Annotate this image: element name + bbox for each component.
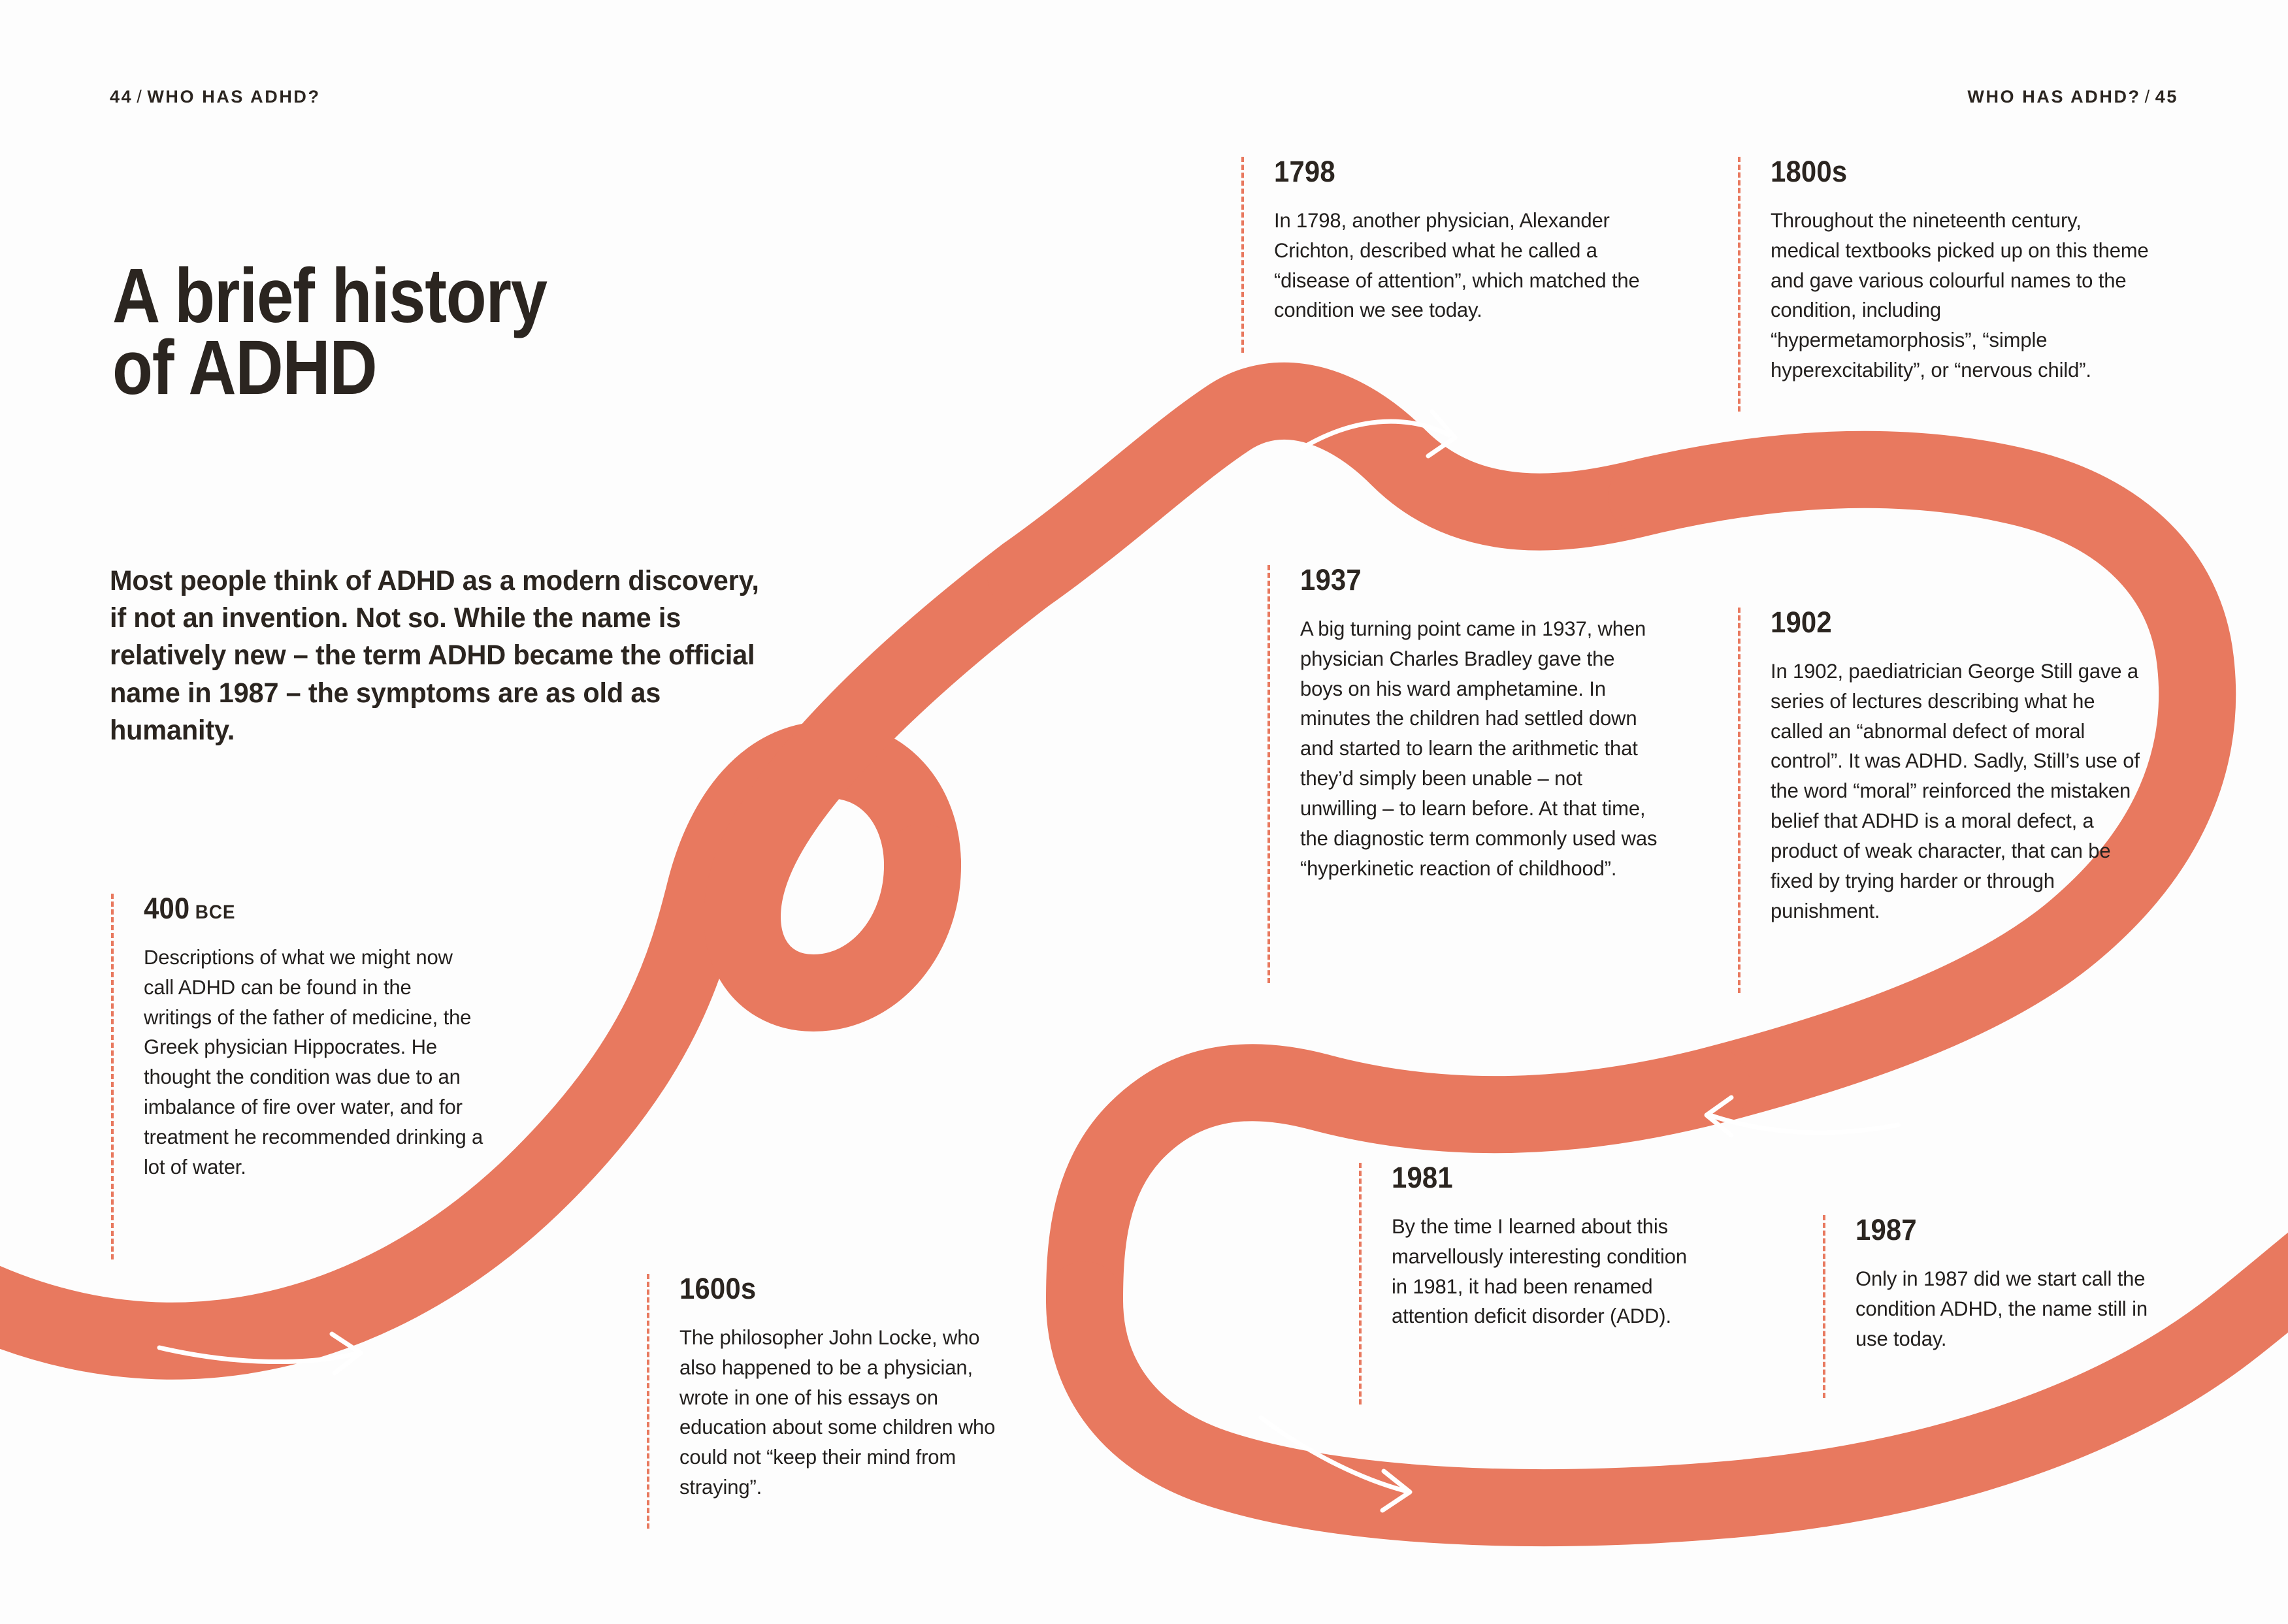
- entry-body-text: Descriptions of what we might now call A…: [144, 943, 485, 1182]
- entry-year-label: 1798: [1274, 157, 1651, 186]
- entry-body-text: The philosopher John Locke, who also hap…: [679, 1323, 1014, 1502]
- section-name-right: WHO HAS ADHD?: [1967, 87, 2140, 106]
- timeline-entry-1937: 1937 A big turning point came in 1937, w…: [1267, 565, 1666, 983]
- entry-body-text: By the time I learned about this marvell…: [1392, 1212, 1701, 1331]
- entry-dashed-rule: [1823, 1215, 1825, 1398]
- running-head-right: WHO HAS ADHD?/45: [1967, 87, 2178, 107]
- entry-year-label: 1902: [1771, 608, 2129, 637]
- entry-body-text: In 1798, another physician, Alexander Cr…: [1274, 206, 1673, 325]
- entry-year-label: 1800s: [1771, 157, 2129, 186]
- entry-dashed-rule: [1359, 1163, 1362, 1405]
- section-name-left: WHO HAS ADHD?: [147, 87, 320, 106]
- timeline-entry-400bce: 400BCE Descriptions of what we might now…: [111, 894, 490, 1259]
- entry-year-label: 1937: [1300, 565, 1641, 594]
- entry-body-text: Only in 1987 did we start call the condi…: [1855, 1264, 2158, 1354]
- entry-dashed-rule: [647, 1274, 649, 1529]
- entry-era-label: BCE: [189, 901, 235, 923]
- timeline-entry-1798: 1798 In 1798, another physician, Alexand…: [1241, 157, 1679, 353]
- entry-dashed-rule: [1738, 608, 1741, 993]
- standfirst-paragraph: Most people think of ADHD as a modern di…: [110, 562, 778, 749]
- entry-dashed-rule: [1267, 565, 1270, 983]
- page-title: A brief history of ADHD: [112, 261, 674, 404]
- page-number-right: 45: [2155, 87, 2178, 106]
- entry-body-text: In 1902, paediatrician George Still gave…: [1771, 657, 2150, 926]
- page-number-left: 44: [110, 87, 133, 106]
- entry-year-label: 1981: [1392, 1163, 1683, 1192]
- page-spread: .ribbon{fill:none;stroke:#e8795f;stroke-…: [0, 0, 2288, 1624]
- entry-year-label: 1600s: [679, 1274, 996, 1303]
- running-head-separator-left: /: [133, 87, 147, 106]
- timeline-entry-1981: 1981 By the time I learned about this ma…: [1359, 1163, 1705, 1405]
- entry-body-text: Throughout the nineteenth century, medic…: [1771, 206, 2150, 385]
- running-head-separator-right: /: [2141, 87, 2155, 106]
- timeline-entry-1800s: 1800s Throughout the nineteenth century,…: [1738, 157, 2156, 412]
- page-title-line-1: A brief history: [112, 261, 674, 333]
- entry-dashed-rule: [1738, 157, 1741, 412]
- entry-dashed-rule: [1241, 157, 1244, 353]
- timeline-entry-1902: 1902 In 1902, paediatrician George Still…: [1738, 608, 2156, 993]
- entry-year-label: 400BCE: [144, 894, 466, 923]
- entry-body-text: A big turning point came in 1937, when p…: [1300, 614, 1661, 883]
- page-title-line-2: of ADHD: [112, 333, 674, 404]
- timeline-entry-1600s: 1600s The philosopher John Locke, who al…: [647, 1274, 1019, 1529]
- entry-year-label: 1987: [1855, 1215, 2141, 1244]
- timeline-entry-1987: 1987 Only in 1987 did we start call the …: [1823, 1215, 2163, 1398]
- entry-dashed-rule: [111, 894, 114, 1259]
- running-head-left: 44/WHO HAS ADHD?: [110, 87, 321, 107]
